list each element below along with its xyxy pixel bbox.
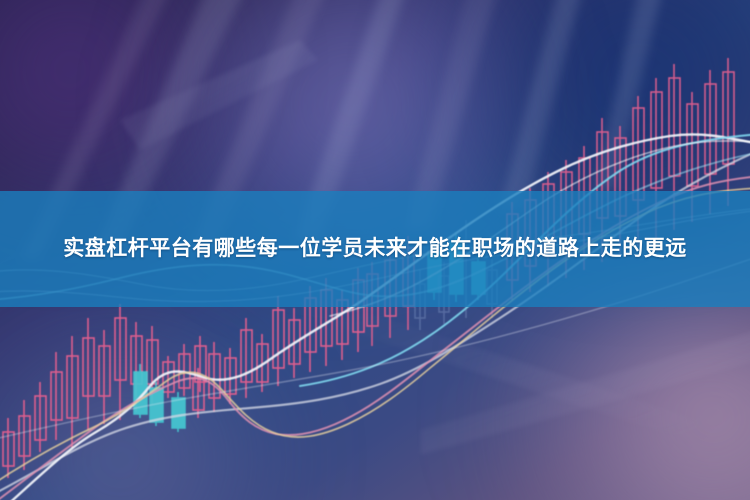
headline-banner: 实盘杠杆平台有哪些每一位学员未来才能在职场的道路上走的更远 <box>0 191 750 307</box>
banner-image: 实盘杠杆平台有哪些每一位学员未来才能在职场的道路上走的更远 <box>0 0 750 500</box>
headline-text: 实盘杠杆平台有哪些每一位学员未来才能在职场的道路上走的更远 <box>25 230 725 268</box>
